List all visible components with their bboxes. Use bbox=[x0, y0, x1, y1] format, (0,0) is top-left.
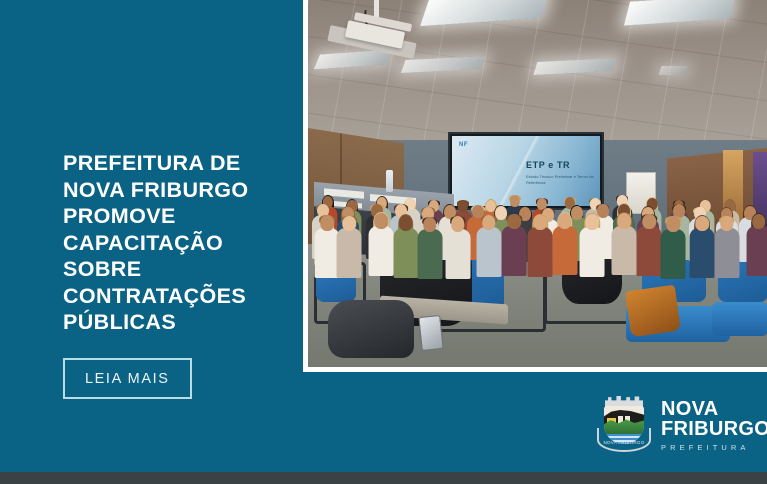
person-torso bbox=[714, 228, 739, 278]
person-torso bbox=[661, 229, 686, 279]
person bbox=[392, 203, 419, 278]
slide-title: ETP e TR bbox=[526, 160, 570, 170]
person-torso bbox=[580, 227, 605, 277]
person-head bbox=[343, 216, 357, 232]
person-torso bbox=[528, 227, 553, 277]
photo-frame: NF ETP e TR Estudo Técnico Preliminar e … bbox=[303, 0, 767, 372]
person-torso bbox=[476, 227, 501, 277]
person-head bbox=[451, 216, 465, 232]
person-torso bbox=[612, 226, 637, 276]
person-head bbox=[533, 215, 547, 231]
person-torso bbox=[337, 228, 362, 278]
person-head bbox=[586, 214, 600, 230]
person-head bbox=[558, 213, 572, 229]
group-photo: NF ETP e TR Estudo Técnico Preliminar e … bbox=[308, 0, 767, 367]
person-head bbox=[642, 214, 656, 230]
person-head bbox=[374, 213, 388, 229]
person-head bbox=[667, 216, 681, 232]
person bbox=[475, 202, 502, 277]
person bbox=[660, 204, 687, 279]
leia-mais-button[interactable]: LEIA MAIS bbox=[63, 358, 192, 400]
ribbon-text: NOVA FRIBURGO bbox=[596, 440, 652, 445]
person-head bbox=[720, 216, 734, 232]
person-head bbox=[752, 214, 766, 230]
chair-seat bbox=[712, 302, 767, 336]
ceiling-light bbox=[659, 66, 688, 75]
person bbox=[745, 201, 767, 276]
person-head bbox=[320, 215, 334, 231]
person bbox=[527, 202, 554, 277]
slide-subtitle: Estudo Técnico Preliminar e Termo de Ref… bbox=[526, 174, 596, 186]
person bbox=[444, 204, 471, 279]
person-torso bbox=[393, 228, 418, 278]
backpack bbox=[328, 300, 414, 358]
person-torso bbox=[445, 229, 470, 279]
news-banner: PREFEITURA DE NOVA FRIBURGO PROMOVE CAPA… bbox=[0, 0, 767, 472]
person bbox=[551, 201, 578, 276]
person bbox=[368, 201, 395, 276]
prefeitura-logo[interactable]: NOVA FRIBURGO NOVA FRIBURGO PREFEITURA bbox=[596, 396, 767, 456]
person-torso bbox=[552, 226, 577, 276]
person bbox=[416, 204, 443, 279]
person bbox=[501, 201, 528, 276]
person bbox=[611, 201, 638, 276]
person-head bbox=[507, 214, 521, 230]
person-torso bbox=[502, 226, 527, 276]
person-head bbox=[618, 213, 632, 229]
person-head bbox=[482, 215, 496, 231]
person-head bbox=[399, 215, 413, 231]
logo-line-prefeitura: PREFEITURA bbox=[661, 440, 767, 454]
person-head bbox=[423, 217, 437, 233]
person bbox=[689, 203, 716, 278]
person-torso bbox=[637, 226, 662, 276]
person-torso bbox=[746, 226, 767, 276]
slide-logo: NF bbox=[459, 142, 468, 148]
person bbox=[579, 202, 606, 277]
smartphone bbox=[418, 315, 443, 351]
person bbox=[635, 201, 662, 276]
person-torso bbox=[417, 229, 442, 279]
page-title: PREFEITURA DE NOVA FRIBURGO PROMOVE CAPA… bbox=[63, 150, 293, 336]
coat-of-arms-icon: NOVA FRIBURGO bbox=[596, 396, 652, 456]
bottom-bar bbox=[0, 472, 767, 484]
person-head bbox=[696, 216, 710, 232]
person bbox=[713, 203, 740, 278]
handbag bbox=[625, 285, 681, 338]
logo-line-friburgo: FRIBURGO bbox=[661, 419, 767, 440]
person-torso bbox=[690, 228, 715, 278]
logo-wordmark: NOVA FRIBURGO PREFEITURA bbox=[661, 399, 767, 454]
person bbox=[336, 203, 363, 278]
text-column: PREFEITURA DE NOVA FRIBURGO PROMOVE CAPA… bbox=[63, 150, 293, 399]
logo-line-nova: NOVA bbox=[661, 399, 767, 419]
person-torso bbox=[369, 226, 394, 276]
